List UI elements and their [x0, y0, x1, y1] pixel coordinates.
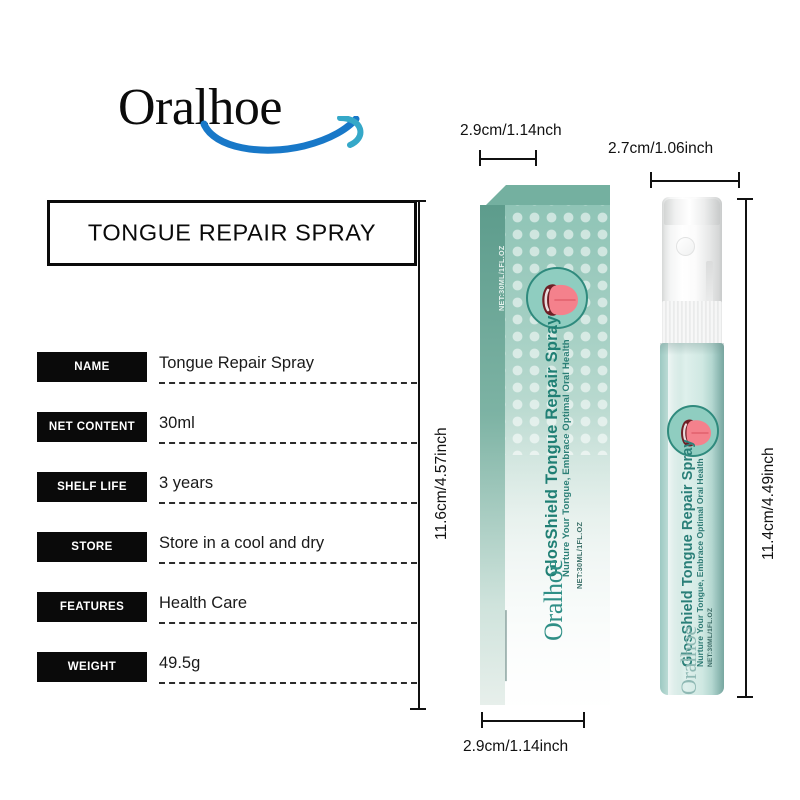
spec-row-name: NAME Tongue Repair Spray	[37, 352, 417, 412]
spec-value: Store in a cool and dry	[159, 534, 324, 553]
caliper-tick-bottom	[410, 708, 426, 710]
spec-divider	[159, 622, 417, 624]
spec-divider	[159, 682, 417, 684]
spec-divider	[159, 382, 417, 384]
spec-row-net-content: NET CONTENT 30ml	[37, 412, 417, 472]
caliper-carton-width-top	[479, 150, 537, 166]
dimension-label-carton-width-bottom: 2.9cm/1.14inch	[463, 738, 568, 756]
spec-row-features: FEATURES Health Care	[37, 592, 417, 652]
dimension-label-bottle-width: 2.7cm/1.06inch	[608, 140, 713, 158]
carton-fineprint-block	[505, 587, 509, 681]
spec-label: FEATURES	[37, 592, 147, 622]
carton-fineprint-line	[505, 611, 506, 682]
spec-row-store: STORE Store in a cool and dry	[37, 532, 417, 592]
caliper-bottle-height	[737, 198, 753, 698]
brand-logo: Oralhoe	[118, 82, 378, 152]
caliper-tick-bottom	[737, 696, 753, 698]
spec-value: Health Care	[159, 594, 247, 613]
product-title-box: TONGUE REPAIR SPRAY	[47, 200, 417, 266]
spec-label: STORE	[37, 532, 147, 562]
dimension-label-bottle-height: 11.4cm/4.49inch	[760, 447, 778, 560]
spec-divider	[159, 502, 417, 504]
carton-headline: GlosShield Tongue Repair Spray	[543, 316, 562, 578]
product-bottle: GlosShield Tongue Repair Spray Nurture Y…	[650, 197, 736, 697]
caliper-tick-top	[737, 198, 753, 200]
bottle-net-info: NET:30ML/1FL.OZ	[707, 608, 714, 667]
product-carton: GlosShield Tongue Repair Spray Nurture Y…	[480, 185, 610, 705]
spec-value: 49.5g	[159, 654, 200, 673]
caliper-tick-left	[481, 712, 483, 728]
brand-swoosh-icon	[200, 116, 380, 156]
caliper-bottle-width	[650, 172, 740, 188]
carton-label-text: GlosShield Tongue Repair Spray Nurture Y…	[505, 205, 610, 705]
spec-label: SHELF LIFE	[37, 472, 147, 502]
caliper-carton-height	[410, 200, 426, 710]
caliper-tick-right	[535, 150, 537, 166]
spec-row-weight: WEIGHT 49.5g	[37, 652, 417, 712]
caliper-tick-top	[410, 200, 426, 202]
bottle-label-text: GlosShield Tongue Repair Spray Nurture Y…	[650, 197, 736, 697]
caliper-tick-right	[738, 172, 740, 188]
spec-value: 3 years	[159, 474, 213, 493]
caliper-tick-left	[479, 150, 481, 166]
carton-tagline: Nurture Your Tongue, Embrace Optimal Ora…	[561, 339, 572, 577]
caliper-tick-right	[583, 712, 585, 728]
spec-label: WEIGHT	[37, 652, 147, 682]
caliper-bar	[481, 720, 585, 722]
carton-front-face: GlosShield Tongue Repair Spray Nurture Y…	[505, 205, 610, 705]
spec-divider	[159, 442, 417, 444]
spec-row-shelf-life: SHELF LIFE 3 years	[37, 472, 417, 532]
carton-brandmark: Oralhoe	[539, 559, 569, 641]
carton-side-net-info: NET:30ML/1FL.OZ	[497, 245, 506, 311]
spec-table: NAME Tongue Repair Spray NET CONTENT 30m…	[37, 352, 417, 712]
dimension-label-carton-height: 11.6cm/4.57inch	[433, 427, 451, 540]
product-illustration: 2.9cm/1.14nch 11.6cm/4.57inch 2.9cm/1.14…	[405, 0, 800, 800]
caliper-bar	[745, 198, 747, 698]
bottle-brandmark: Oralhoe	[676, 626, 702, 695]
spec-label: NAME	[37, 352, 147, 382]
spec-label: NET CONTENT	[37, 412, 147, 442]
caliper-bar	[650, 180, 740, 182]
dimension-label-carton-width-top: 2.9cm/1.14nch	[460, 122, 562, 140]
spec-divider	[159, 562, 417, 564]
page-title: TONGUE REPAIR SPRAY	[50, 220, 414, 247]
spec-value: Tongue Repair Spray	[159, 354, 314, 373]
spec-value: 30ml	[159, 414, 195, 433]
caliper-tick-left	[650, 172, 652, 188]
carton-net-info: NET:30ML/1FL.OZ	[575, 522, 584, 589]
caliper-carton-width-bottom	[481, 712, 585, 728]
caliper-bar	[418, 200, 420, 710]
caliper-bar	[479, 158, 537, 160]
